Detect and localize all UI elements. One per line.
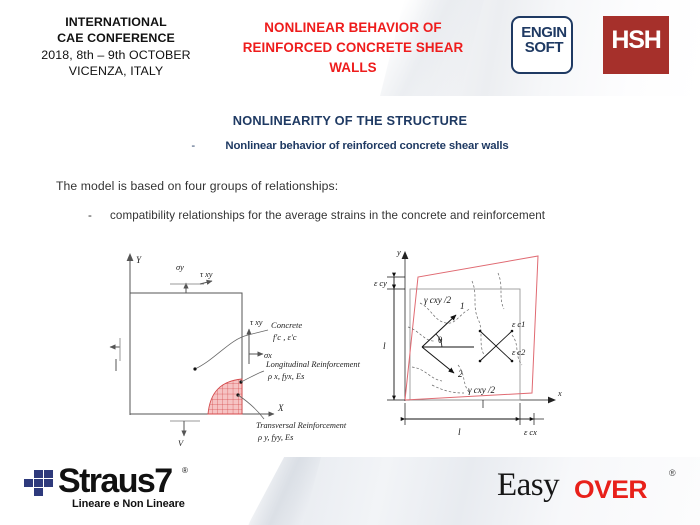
conference-line-2: CAE CONFERENCE <box>6 30 226 46</box>
figure-right-gamma-top: γ cxy /2 <box>424 295 452 305</box>
figure-left-trans-reinf-props: ρ y, fyy, Es <box>257 433 293 442</box>
figure-left-trans-reinf-label: Transversal Reinforcement <box>256 421 347 430</box>
figure-left-long-reinf-label: Longitudinal Reinforcement <box>265 360 361 369</box>
figure-left-sigma-x: σx <box>264 351 272 360</box>
easyover-easy-text: Easy <box>497 467 559 504</box>
figure-left-tau-right: τ xy <box>250 318 263 327</box>
figure-right-gamma-bottom: γ cxy /2 <box>468 385 496 395</box>
easyover-over-text: OVER <box>574 476 647 505</box>
straus7-registered-mark: ® <box>182 466 188 475</box>
straus7-tagline: Lineare e Non Lineare <box>72 498 185 510</box>
straus7-squares-icon <box>24 470 58 496</box>
sub-bullet-text: Nonlinear behavior of reinforced concret… <box>225 140 508 152</box>
enginsoft-logo: ENGIN SOFT <box>511 16 573 74</box>
figure-left-sigma-y: σy <box>176 263 184 272</box>
figure-right-length-left: l <box>383 342 386 352</box>
figure-right-theta: θ <box>438 336 443 346</box>
bullet-line: -compatibility relationships for the ave… <box>88 209 545 222</box>
section-title: NONLINEARITY OF THE STRUCTURE <box>0 113 700 128</box>
enginsoft-logo-line-2: SOFT <box>513 40 575 55</box>
hsh-logo-text: HSH <box>603 28 669 53</box>
figure-right-length-bottom: l <box>458 428 461 438</box>
enginsoft-logo-line-1: ENGIN <box>513 25 575 40</box>
sub-bullet-dash: - <box>191 140 225 152</box>
figure-left-v-label: V <box>178 439 184 448</box>
figure-right-ecx: ε cx <box>524 428 537 437</box>
easyover-registered-mark: ® <box>669 468 676 478</box>
figure-left-long-reinf-props: ρ x, fyx, Es <box>267 372 304 381</box>
conference-line-4: VICENZA, ITALY <box>6 63 226 79</box>
straus7-wordmark: Straus7 <box>58 462 172 501</box>
figure-left-concrete-label: Concrete <box>271 320 302 330</box>
figure-right-ecy: ε cy <box>374 279 387 288</box>
figure-right-axis-y: y <box>396 248 401 257</box>
conference-line-1: INTERNATIONAL <box>6 14 226 30</box>
figure-strain-element: y x θ 1 2 <box>372 243 602 453</box>
hsh-logo: HSH <box>603 16 669 74</box>
bullet-dash: - <box>88 209 110 222</box>
sub-bullet-line: -Nonlinear behavior of reinforced concre… <box>0 140 700 152</box>
figure-stress-element: Y σy τ xy τ xy σx V X <box>108 243 373 453</box>
figure-right-ec1: ε c1 <box>512 320 525 329</box>
figure-right-axis-x: x <box>557 389 562 398</box>
presentation-title: NONLINEAR BEHAVIOR OF REINFORCED CONCRET… <box>228 18 478 78</box>
conference-line-3: 2018, 8th – 9th OCTOBER <box>6 47 226 63</box>
figure-left-axis-y: Y <box>136 255 142 265</box>
figure-left-tau-top: τ xy <box>200 270 213 279</box>
figure-right-ec2: ε c2 <box>512 348 525 357</box>
bullet-text: compatibility relationships for the aver… <box>110 209 545 222</box>
straus7-logo: Straus7 ® Lineare e Non Lineare <box>24 464 214 516</box>
figure-right-dir-2: 2 <box>458 369 463 379</box>
figure-right-dir-1: 1 <box>460 301 465 311</box>
conference-info: INTERNATIONAL CAE CONFERENCE 2018, 8th –… <box>6 14 226 80</box>
figure-left-concrete-props: f'c , ε'c <box>273 332 297 342</box>
presentation-slide: INTERNATIONAL CAE CONFERENCE 2018, 8th –… <box>0 0 700 525</box>
easyover-logo: Easy OVER ® <box>497 467 687 515</box>
figure-left-axis-x: X <box>277 403 284 413</box>
intro-paragraph: The model is based on four groups of rel… <box>56 179 338 193</box>
